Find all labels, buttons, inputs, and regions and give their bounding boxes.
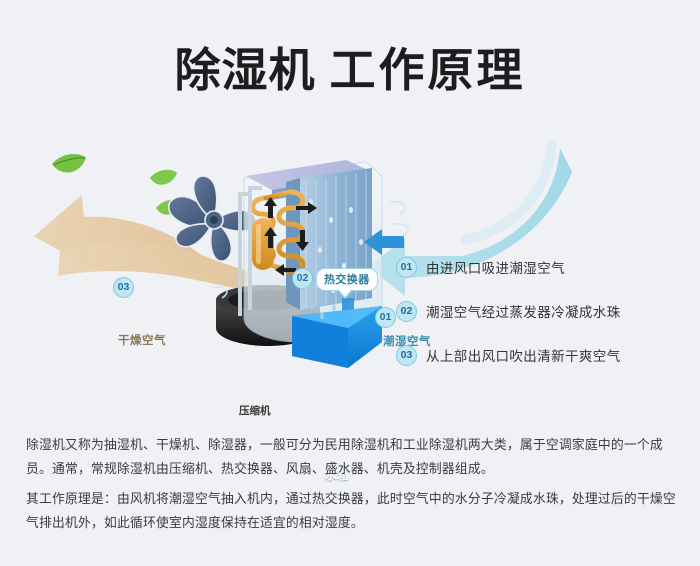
dry-air-label: 干燥空气 [118,332,166,348]
legend-text-02: 潮湿空气经过蒸发器冷凝成水珠 [426,301,621,321]
description-paragraph-1: 除湿机又称为抽湿机、干燥机、除湿器，一般可分为民用除湿机和工业除湿机两大类，属于… [26,433,676,481]
legend-item-01: 01 由进风口吸进潮湿空气 [396,256,686,278]
description-paragraph-2: 其工作原理是：由风机将潮湿空气抽入机内，通过热交换器，此时空气中的水分子冷凝成水… [26,487,676,535]
legend-badge-01: 01 [396,257,417,278]
leaf-icon-2 [150,170,177,185]
legend-text-03: 从上部出风口吹出清新干爽空气 [426,345,621,365]
compressor-label: 压缩机 [239,403,271,418]
page-title-part2: 工作原理 [330,44,526,96]
heat-exchanger-callout: 热交换器 [316,268,378,291]
legend-badge-02: 02 [396,301,417,322]
diagram-badge-01: 01 [375,307,396,328]
diagram-badge-03: 03 [113,277,134,298]
legend-item-03: 03 从上部出风口吹出清新干爽空气 [396,344,686,366]
page-title: 除湿机工作原理 [0,34,700,100]
leaf-icon-1 [52,154,86,173]
water-tank [292,306,382,368]
diagram-badge-02: 02 [292,268,313,289]
page-title-part1: 除湿机 [175,44,316,96]
legend-list: 01 由进风口吸进潮湿空气 02 潮湿空气经过蒸发器冷凝成水珠 03 从上部出风… [396,256,686,388]
legend-badge-03: 03 [396,345,417,366]
legend-text-01: 由进风口吸进潮湿空气 [426,257,565,277]
legend-item-02: 02 潮湿空气经过蒸发器冷凝成水珠 [396,300,686,322]
